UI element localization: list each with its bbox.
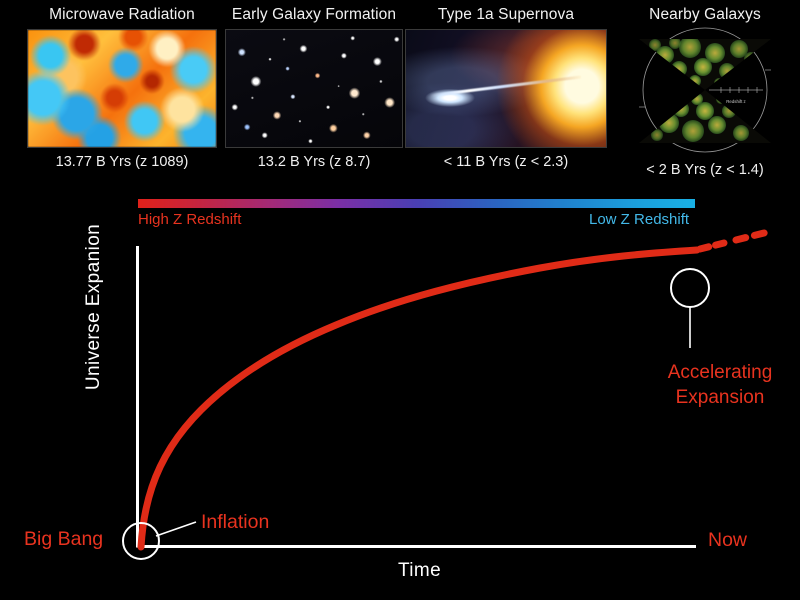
y-axis-title: Universe Expanion	[83, 207, 105, 407]
curve-dashed-extension-tail	[736, 232, 768, 240]
accelerating-expansion-label-line1: Accelerating	[640, 360, 800, 385]
curve-dashed-extension	[700, 243, 724, 249]
curve-guide	[140, 300, 520, 545]
accelerating-expansion-label-line2: Expansion	[640, 385, 800, 410]
big-bang-label: Big Bang	[24, 528, 103, 551]
now-label: Now	[708, 529, 747, 552]
curve-guide-2	[140, 264, 690, 546]
inflation-label: Inflation	[201, 511, 269, 534]
expansion-chart	[0, 0, 800, 600]
infographic-canvas: Microwave Radiation 13.77 B Yrs (z 1089)…	[0, 0, 800, 600]
universe-expansion-curve	[141, 250, 697, 547]
x-axis-title: Time	[398, 560, 441, 582]
accelerating-expansion-marker-circle[interactable]	[671, 269, 709, 307]
inflation-leader-line	[156, 522, 196, 536]
accelerating-expansion-label: Accelerating Expansion	[640, 360, 800, 410]
